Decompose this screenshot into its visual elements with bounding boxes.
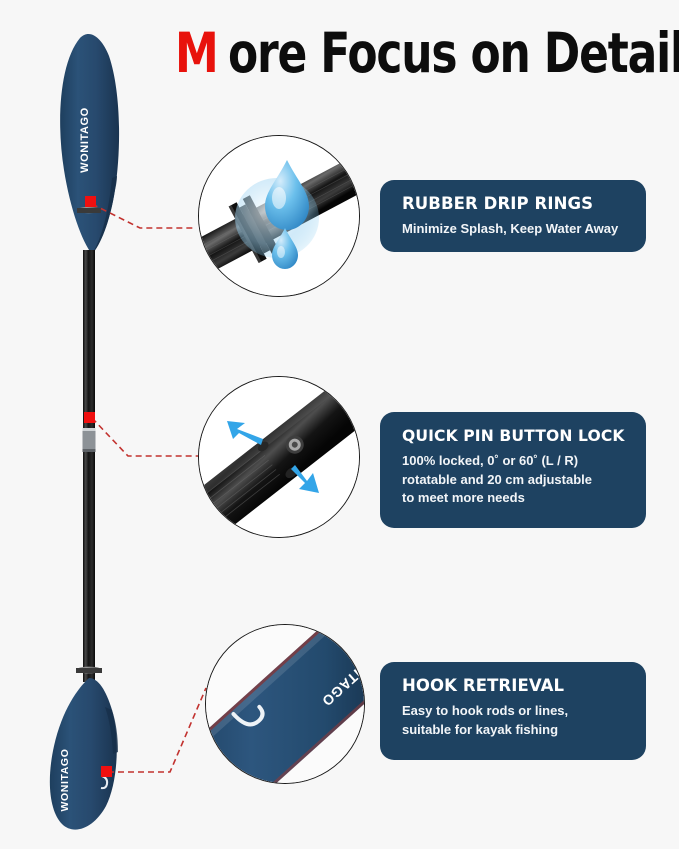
top-blade-brand-text: WONITAGO xyxy=(79,107,91,173)
callout-1-body-line-1: Minimize Splash, Keep Water Away xyxy=(402,220,626,239)
callout-rubber-drip-rings: RUBBER DRIP RINGS Minimize Splash, Keep … xyxy=(380,180,646,252)
shaft-ferrule xyxy=(83,428,96,452)
callout-1-title: RUBBER DRIP RINGS xyxy=(402,194,626,214)
title-accent-letter: M xyxy=(175,24,218,82)
paddle-shaft xyxy=(76,207,102,682)
callout-2-body: 100% locked, 0˚ or 60˚ (L / R) rotatable… xyxy=(402,452,626,508)
detail-photo-rubber-drip-rings xyxy=(198,135,360,297)
drip-ring-collar-top xyxy=(77,207,101,213)
callout-2-body-line-1: 100% locked, 0˚ or 60˚ (L / R) xyxy=(402,452,626,471)
callout-3-body: Easy to hook rods or lines, suitable for… xyxy=(402,702,626,739)
kayak-paddle-image: WONITAGO xyxy=(16,10,166,840)
callout-3-title: HOOK RETRIEVAL xyxy=(402,676,626,696)
page-title: More Focus on Details xyxy=(175,22,665,84)
callout-hook-retrieval: HOOK RETRIEVAL Easy to hook rods or line… xyxy=(380,662,646,760)
callout-2-title: QUICK PIN BUTTON LOCK xyxy=(402,426,626,446)
callout-2-body-line-3: to meet more needs xyxy=(402,489,626,508)
drip-ring-collar-bottom xyxy=(76,667,102,674)
detail-photo-hook-retrieval: WONITAGO xyxy=(205,624,365,784)
paddle-blade-bottom: WONITAGO xyxy=(50,678,118,830)
paddle-blade-top: WONITAGO xyxy=(60,34,119,254)
title-rest: ore Focus on Details xyxy=(228,24,679,82)
callout-quick-pin-button-lock: QUICK PIN BUTTON LOCK 100% locked, 0˚ or… xyxy=(380,412,646,528)
callout-3-body-line-1: Easy to hook rods or lines, xyxy=(402,702,626,721)
detail-photo-quick-pin-button-lock xyxy=(198,376,360,538)
callout-3-body-line-2: suitable for kayak fishing xyxy=(402,721,626,740)
bottom-blade-brand-text: WONITAGO xyxy=(59,749,71,812)
callout-2-body-line-2: rotatable and 20 cm adjustable xyxy=(402,471,626,490)
callout-1-body: Minimize Splash, Keep Water Away xyxy=(402,220,626,239)
infographic-page: More Focus on Details xyxy=(0,0,679,849)
